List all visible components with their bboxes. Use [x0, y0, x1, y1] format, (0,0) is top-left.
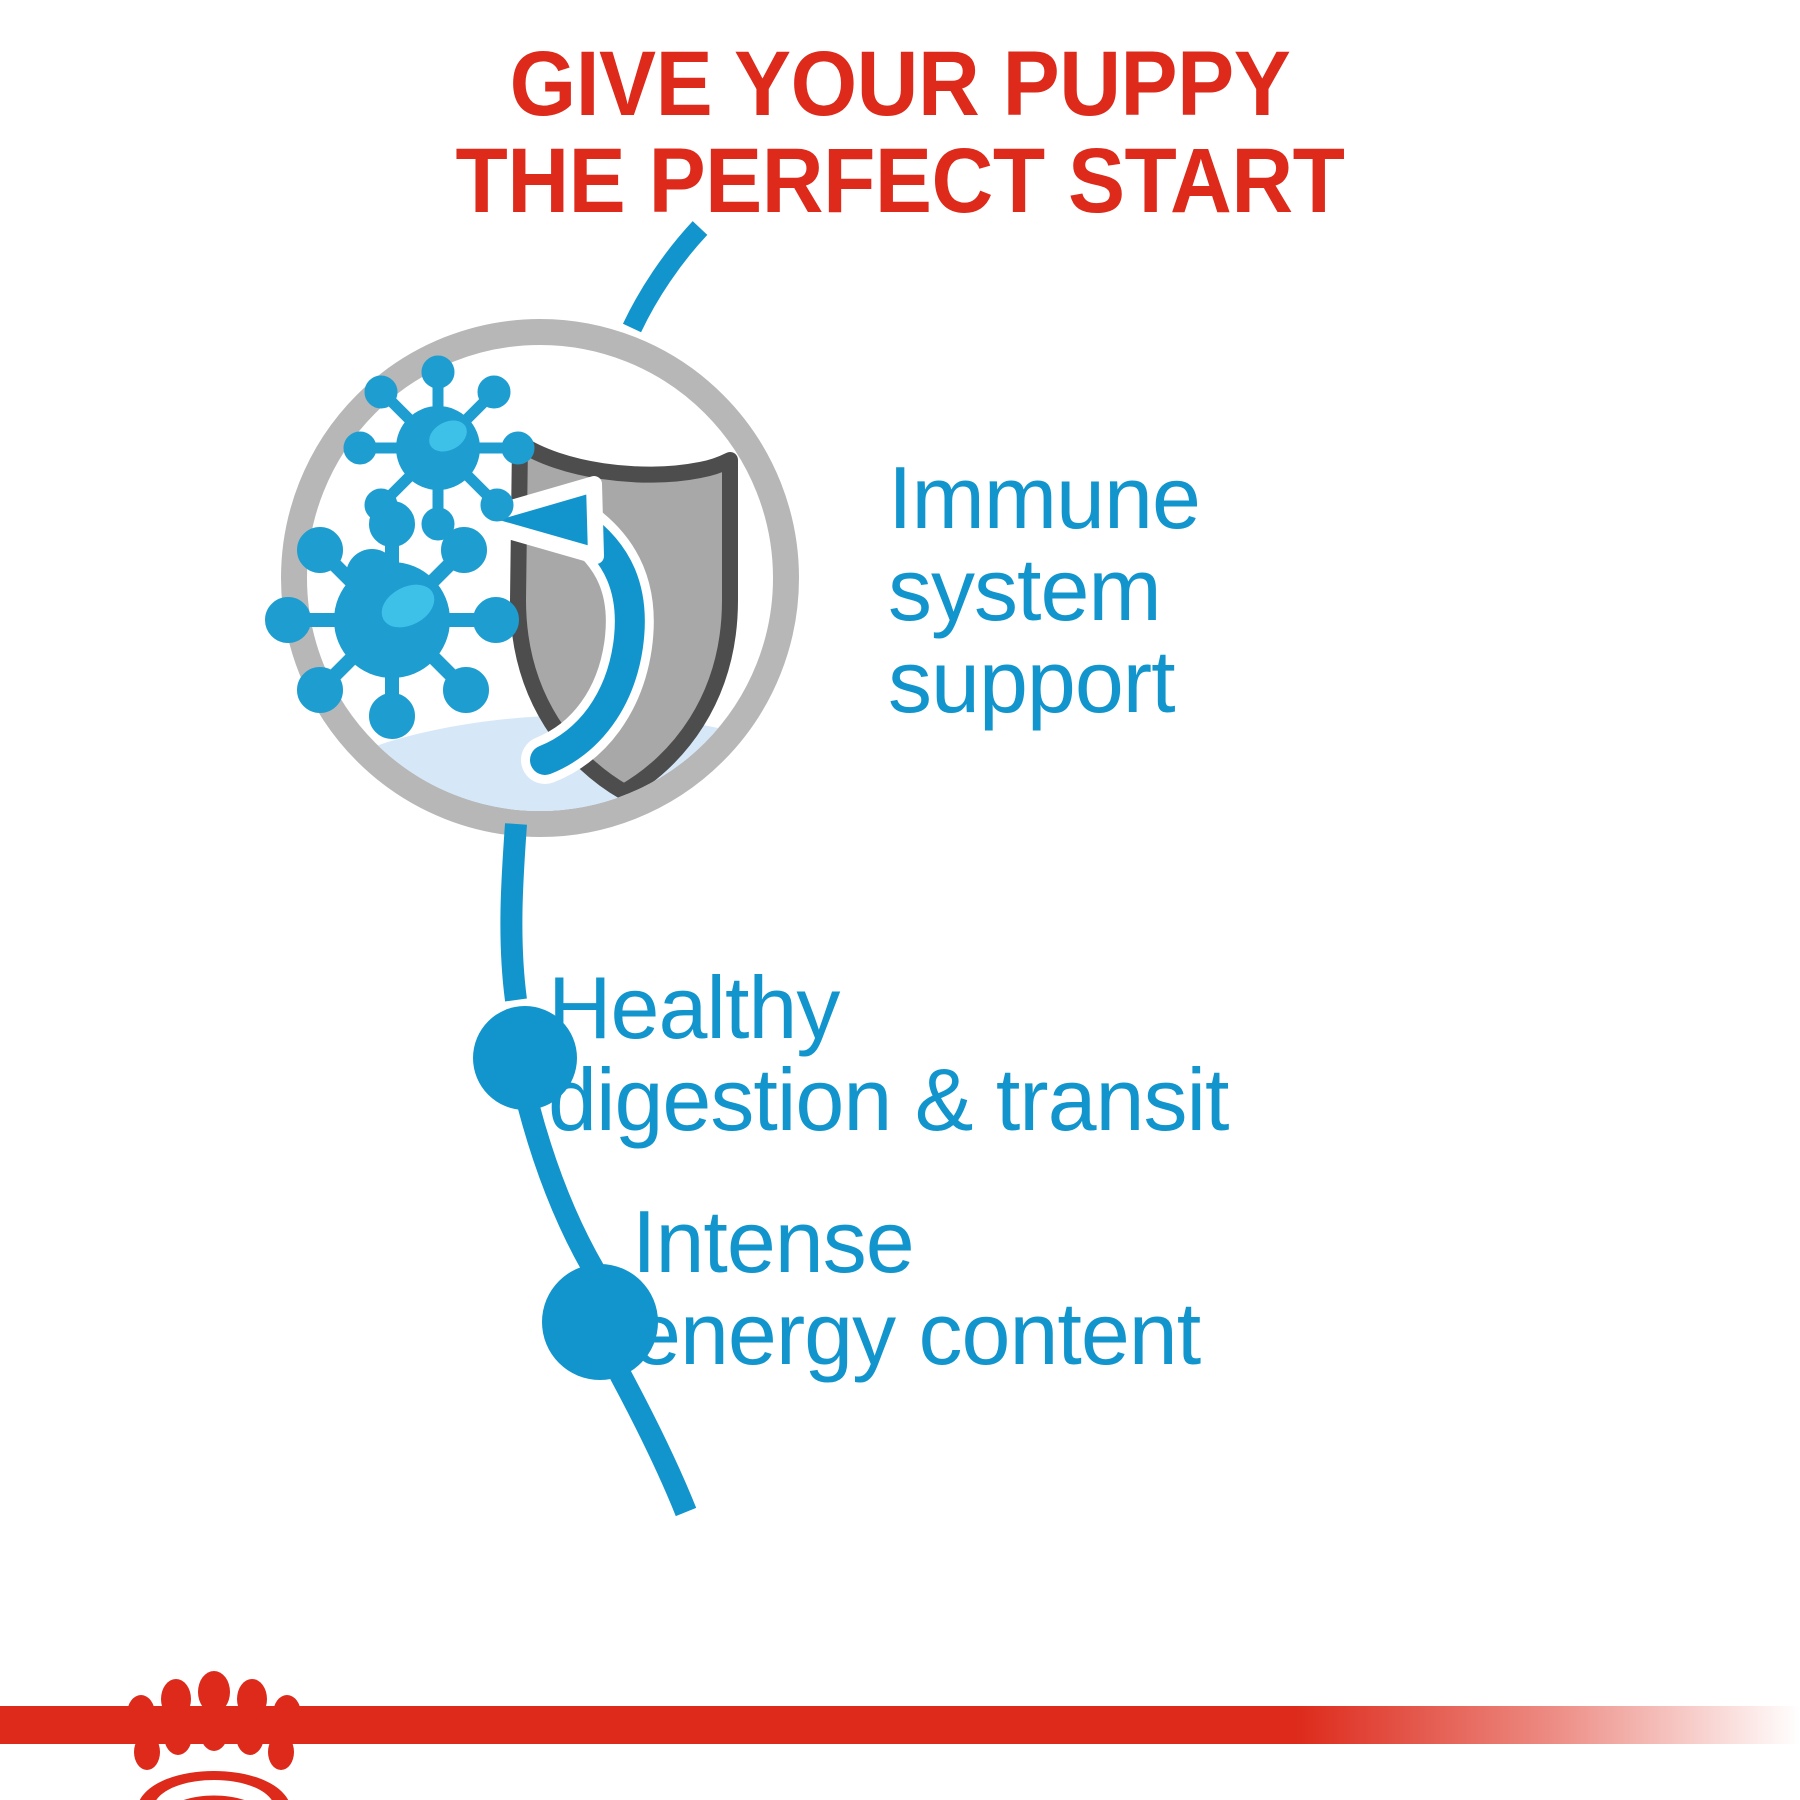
- brand-bar-stripe: [0, 1706, 1800, 1744]
- page-title: GIVE YOUR PUPPY THE PERFECT START: [63, 36, 1737, 230]
- poster-canvas: GIVE YOUR PUPPY THE PERFECT START: [0, 0, 1800, 1800]
- page-title-line-2: THE PERFECT START: [63, 133, 1737, 230]
- immune-system-shield-illustration: [0, 0, 1800, 1800]
- shield-icon: [518, 443, 730, 792]
- benefit-line: digestion & transit: [548, 1054, 1229, 1146]
- connector-line-top: [632, 228, 700, 328]
- benefit-label-healthy-digestion-transit: Healthy digestion & transit: [548, 962, 1229, 1146]
- benefit-line: system: [888, 544, 1200, 636]
- pathogen-dot-icon: [346, 549, 398, 601]
- page-title-line-1: GIVE YOUR PUPPY: [63, 36, 1737, 133]
- benefit-label-immune-system-support: Immune system support: [888, 452, 1200, 728]
- benefit-line: Immune: [888, 452, 1200, 544]
- brand-bar: [0, 1668, 1800, 1800]
- benefit-label-intense-energy-content: Intense energy content: [632, 1196, 1200, 1380]
- pathogen-icon-large: [272, 508, 512, 732]
- illustration-circle-ring: [294, 332, 786, 824]
- deflection-arrow-icon: [470, 484, 630, 760]
- benefit-line: Intense: [632, 1196, 1200, 1288]
- benefit-line: energy content: [632, 1288, 1200, 1380]
- connector-line-bottom: [473, 824, 686, 1512]
- benefit-line: support: [888, 636, 1200, 728]
- benefit-line: Healthy: [548, 962, 1229, 1054]
- pathogen-icon-small: [349, 361, 529, 535]
